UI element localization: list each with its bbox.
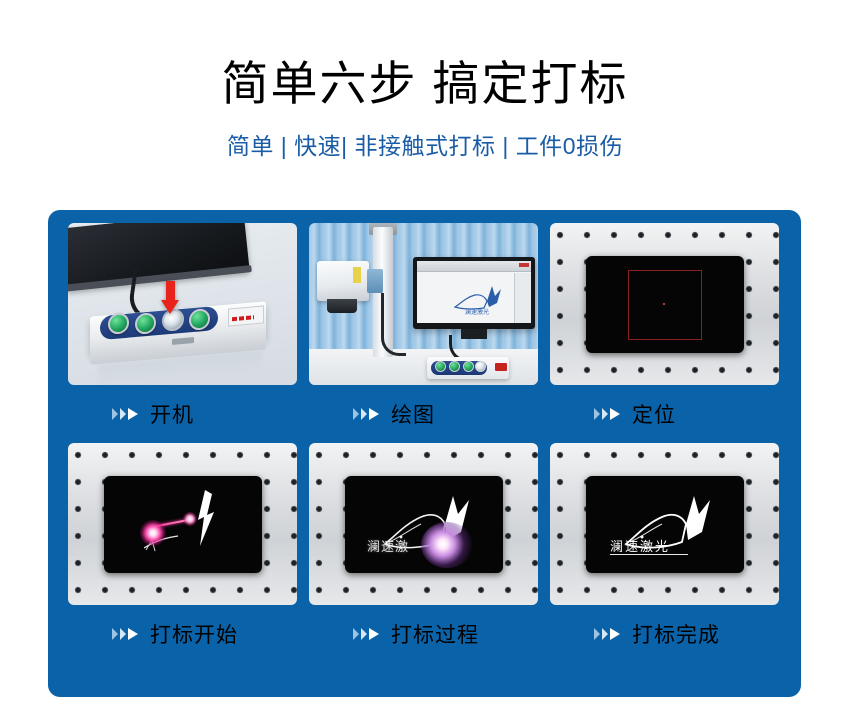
laser-spark-large: [140, 520, 166, 546]
step-cell-1[interactable]: 开机: [62, 223, 303, 443]
step-cell-6[interactable]: 澜速激光 打标完成: [544, 443, 785, 663]
step-caption-3: 定位: [550, 385, 779, 443]
steps-grid: 开机: [62, 223, 787, 663]
console-button-2: [449, 361, 460, 372]
logo-underline: [610, 554, 688, 555]
control-panel-power-on-photo: [68, 223, 297, 385]
console-button-3: [463, 361, 474, 372]
triple-chevron-right-icon: [112, 407, 142, 421]
positioning-red-frame-photo: [550, 223, 779, 385]
workpiece-plate: 澜速激光: [586, 476, 744, 573]
laser-neck: [367, 269, 383, 293]
page-subtitle: 简单 | 快速| 非接触式打标 | 工件0损伤: [0, 127, 850, 161]
workpiece-plate: 澜速激: [345, 476, 503, 573]
step-label-4: 打标开始: [150, 619, 238, 649]
yellow-warning-tag: [353, 267, 361, 283]
step-caption-5: 打标过程: [309, 605, 538, 663]
red-positioning-frame: [628, 270, 702, 340]
step-cell-5[interactable]: 澜速激 打标过程: [303, 443, 544, 663]
laser-machine-drawing-photo: 澜速激光: [309, 223, 538, 385]
step-label-3: 定位: [632, 399, 676, 429]
triple-chevron-right-icon: [112, 627, 142, 641]
software-toolbar: [417, 261, 531, 272]
workpiece-plate: [586, 256, 744, 353]
logo-text: 澜速激光: [610, 536, 670, 555]
step-label-1: 开机: [150, 399, 194, 429]
triple-chevron-right-icon: [594, 627, 624, 641]
step-caption-2: 绘图: [309, 385, 538, 443]
steps-panel: 开机: [48, 210, 801, 697]
laser-lens: [327, 299, 357, 313]
red-indicator-label: [228, 305, 264, 326]
logo-text-partial: 澜速激: [367, 536, 409, 555]
triple-chevron-right-icon: [594, 407, 624, 421]
step-label-5: 打标过程: [391, 619, 479, 649]
wolf-logo-drawing-icon: 澜速激光: [451, 283, 507, 317]
page-header: 简单六步 搞定打标 简单 | 快速| 非接触式打标 | 工件0损伤: [0, 0, 850, 161]
laser-glow-spot: [421, 522, 473, 568]
laser-head: [317, 261, 369, 301]
page-title: 简单六步 搞定打标: [0, 58, 850, 111]
drawing-logo-text: 澜速激光: [465, 308, 489, 316]
console-button-4: [475, 361, 486, 372]
marking-start-spark-photo: [68, 443, 297, 605]
step-caption-6: 打标完成: [550, 605, 779, 663]
step-caption-4: 打标开始: [68, 605, 297, 663]
console-button-1: [435, 361, 446, 372]
monitor-frame: 澜速激光: [413, 257, 535, 329]
step-cell-2[interactable]: 澜速激光: [303, 223, 544, 443]
step-cell-4[interactable]: 打标开始: [62, 443, 303, 663]
step-caption-1: 开机: [68, 385, 297, 443]
software-side-panel: [514, 273, 531, 323]
marking-in-progress-photo: 澜速激: [309, 443, 538, 605]
console-red-switch: [495, 363, 507, 371]
workpiece-plate: [104, 476, 262, 573]
monitor-screen: 澜速激光: [417, 261, 531, 323]
step-cell-3[interactable]: 定位: [544, 223, 785, 443]
triple-chevron-right-icon: [353, 627, 383, 641]
machine-cable: [381, 293, 406, 356]
step-label-6: 打标完成: [632, 619, 720, 649]
marking-finished-photo: 澜速激光: [550, 443, 779, 605]
red-center-dot: [663, 303, 665, 305]
red-down-arrow-icon: [161, 281, 179, 315]
triple-chevron-right-icon: [353, 407, 383, 421]
laser-spark-small: [183, 512, 197, 526]
step-label-2: 绘图: [391, 399, 435, 429]
